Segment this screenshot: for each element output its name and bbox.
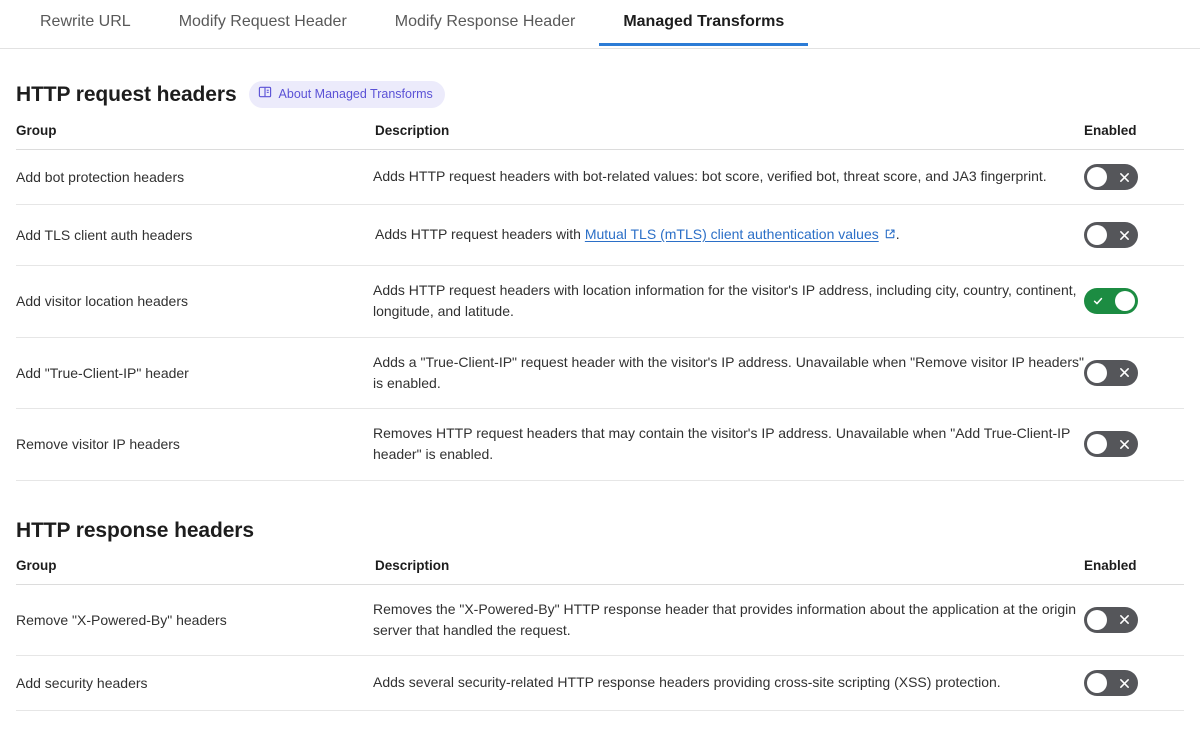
table-header: Group Description Enabled [16,123,1184,150]
section-http-request-headers: HTTP request headers About Managed Trans… [0,81,1200,481]
about-managed-transforms-link[interactable]: About Managed Transforms [249,81,445,108]
column-header-group: Group [16,123,373,150]
toggle-add-true-client-ip-header[interactable] [1084,360,1138,386]
toggle-knob [1087,363,1107,383]
column-header-group: Group [16,558,373,585]
row-description: Adds HTTP request headers with bot-relat… [373,150,1084,205]
close-icon [1110,607,1138,633]
table-header-row: Group Description Enabled [16,558,1184,585]
tab-rewrite-url[interactable]: Rewrite URL [16,0,155,46]
row-group-name: Remove "X-Powered-By" headers [16,584,373,656]
row-group-name: Add "True-Client-IP" header [16,337,373,409]
column-header-enabled: Enabled [1084,558,1184,585]
toggle-add-bot-protection-headers[interactable] [1084,164,1138,190]
row-description: Removes the "X-Powered-By" HTTP response… [373,584,1084,656]
toggle-knob [1087,434,1107,454]
toggle-remove-visitor-ip-headers[interactable] [1084,431,1138,457]
external-link-icon [884,225,896,246]
table-header-row: Group Description Enabled [16,123,1184,150]
column-header-enabled: Enabled [1084,123,1184,150]
row-enabled-cell [1084,150,1184,205]
table-body: Remove "X-Powered-By" headers Removes th… [16,584,1184,711]
close-icon [1110,164,1138,190]
row-enabled-cell [1084,584,1184,656]
page-title: HTTP request headers [16,83,237,107]
toggle-remove-x-powered-by-headers[interactable] [1084,607,1138,633]
row-group-name: Add visitor location headers [16,266,373,338]
row-description: Adds a "True-Client-IP" request header w… [373,337,1084,409]
row-description: Removes HTTP request headers that may co… [373,409,1084,481]
table-header: Group Description Enabled [16,558,1184,585]
column-header-description: Description [373,123,1084,150]
toggle-add-security-headers[interactable] [1084,670,1138,696]
row-enabled-cell [1084,266,1184,338]
table-row: Remove "X-Powered-By" headers Removes th… [16,584,1184,656]
toggle-add-tls-client-auth-headers[interactable] [1084,222,1138,248]
row-description: Adds several security-related HTTP respo… [373,656,1084,711]
section-title-response: HTTP response headers [16,519,254,543]
row-group-name: Add bot protection headers [16,150,373,205]
row-group-name: Remove visitor IP headers [16,409,373,481]
table-row: Add "True-Client-IP" header Adds a "True… [16,337,1184,409]
mtls-documentation-link[interactable]: Mutual TLS (mTLS) client authentication … [585,226,879,242]
managed-transforms-response-table: Group Description Enabled Remove "X-Powe… [16,558,1184,712]
toggle-knob [1087,167,1107,187]
table-row: Add security headers Adds several securi… [16,656,1184,711]
row-description: Adds HTTP request headers with location … [373,266,1084,338]
check-icon [1084,288,1112,314]
tab-managed-transforms[interactable]: Managed Transforms [599,0,808,46]
row-enabled-cell [1084,205,1184,266]
close-icon [1110,360,1138,386]
section-header: HTTP request headers About Managed Trans… [16,81,1184,108]
toggle-knob [1087,610,1107,630]
table-body: Add bot protection headers Adds HTTP req… [16,150,1184,481]
close-icon [1110,222,1138,248]
row-description-suffix: . [896,226,900,242]
row-enabled-cell [1084,409,1184,481]
close-icon [1110,431,1138,457]
book-icon [258,85,272,104]
toggle-add-visitor-location-headers[interactable] [1084,288,1138,314]
row-enabled-cell [1084,656,1184,711]
row-description-prefix: Adds HTTP request headers with [375,226,585,242]
toggle-knob [1115,291,1135,311]
section-header: HTTP response headers [16,519,1184,543]
toggle-knob [1087,225,1107,245]
table-row: Add bot protection headers Adds HTTP req… [16,150,1184,205]
table-row: Remove visitor IP headers Removes HTTP r… [16,409,1184,481]
tab-bar: Rewrite URL Modify Request Header Modify… [0,0,1200,49]
row-group-name: Add TLS client auth headers [16,205,373,266]
close-icon [1110,670,1138,696]
table-row: Add TLS client auth headers Adds HTTP re… [16,205,1184,266]
tab-modify-response-header[interactable]: Modify Response Header [371,0,600,46]
table-row: Add visitor location headers Adds HTTP r… [16,266,1184,338]
managed-transforms-request-table: Group Description Enabled Add bot protec… [16,123,1184,481]
column-header-description: Description [373,558,1084,585]
about-badge-label: About Managed Transforms [279,88,433,101]
tab-modify-request-header[interactable]: Modify Request Header [155,0,371,46]
row-group-name: Add security headers [16,656,373,711]
section-http-response-headers: HTTP response headers Group Description … [0,519,1200,712]
row-enabled-cell [1084,337,1184,409]
toggle-knob [1087,673,1107,693]
row-description: Adds HTTP request headers with Mutual TL… [373,205,1084,266]
